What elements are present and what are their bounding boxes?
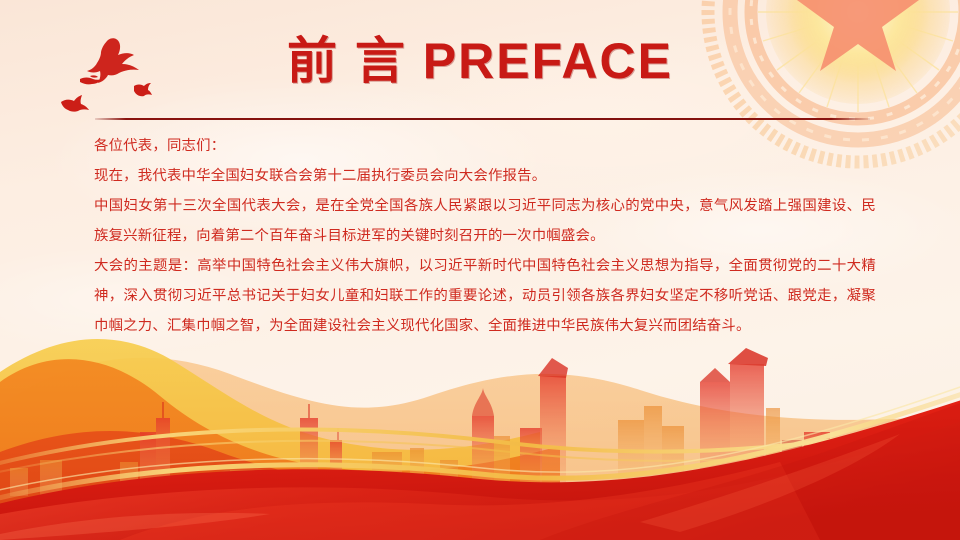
paragraph-1: 各位代表，同志们： xyxy=(94,131,876,161)
title-divider xyxy=(95,118,870,120)
page-title: 前 言 PREFACE xyxy=(0,36,960,86)
page-title-text: 前 言 PREFACE xyxy=(287,36,673,86)
paragraph-3: 中国妇女第十三次全国代表大会，是在全党全国各族人民紧跟以习近平同志为核心的党中央… xyxy=(94,191,876,251)
preface-slide: 前 言 PREFACE 各位代表，同志们： 现在，我代表中华全国妇女联合会第十二… xyxy=(0,0,960,540)
paragraph-4: 大会的主题是：高举中国特色社会主义伟大旗帜，以习近平新时代中国特色社会主义思想为… xyxy=(94,251,876,341)
bottom-scenery-decoration xyxy=(0,310,960,540)
preface-body: 各位代表，同志们： 现在，我代表中华全国妇女联合会第十二届执行委员会向大会作报告… xyxy=(94,131,876,341)
paragraph-2: 现在，我代表中华全国妇女联合会第十二届执行委员会向大会作报告。 xyxy=(94,161,876,191)
